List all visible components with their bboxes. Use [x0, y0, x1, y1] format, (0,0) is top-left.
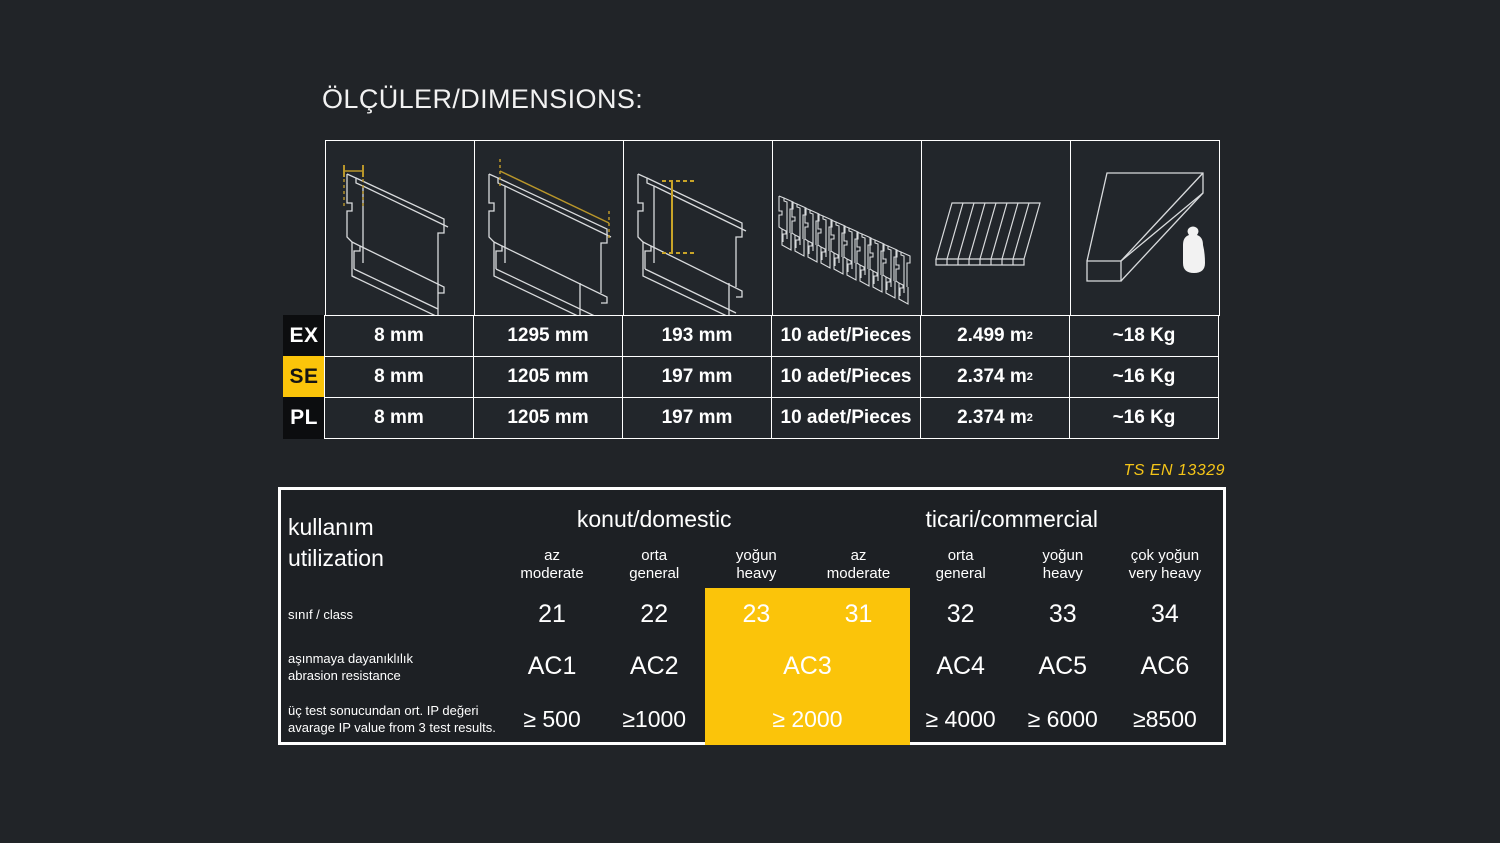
class-21: 21: [501, 588, 603, 640]
subheader-en: heavy: [705, 565, 807, 583]
cell-weight: ~16 Kg: [1069, 356, 1219, 398]
subheader-tr: az: [501, 547, 603, 565]
subheader-tr: az: [807, 547, 909, 565]
dimensions-title: ÖLÇÜLER/DIMENSIONS:: [322, 84, 643, 115]
row-code-ex: EX: [283, 315, 325, 357]
subheader-en: very heavy: [1114, 565, 1216, 583]
class-22: 22: [603, 588, 705, 640]
utilization-row-abrasion: aşınmaya dayanıklılık abrasion resistanc…: [288, 640, 1216, 693]
standard-label: TS EN 13329: [0, 462, 1225, 480]
group-header-commercial: ticari/commercial: [807, 497, 1216, 541]
cell-area: 2.374 m2: [920, 356, 1070, 398]
package-weight-drawing: [1070, 140, 1220, 316]
cell-area-value: 2.374 m: [957, 366, 1027, 388]
subheader-domestic-general: orta general: [603, 541, 705, 588]
utilization-group-header-row: kullanım utilization konut/domestic tica…: [288, 497, 1216, 541]
subheader-commercial-very-heavy: çok yoğun very heavy: [1114, 541, 1216, 588]
abrasion-ac2: AC2: [603, 640, 705, 693]
subheader-domestic-heavy: yoğun heavy: [705, 541, 807, 588]
row-label-ip: üç test sonucundan ort. IP değeri avarag…: [288, 693, 501, 745]
table-row: PL 8 mm 1205 mm 197 mm 10 adet/Pieces 2.…: [283, 397, 1225, 439]
subheader-tr: yoğun: [705, 547, 807, 565]
row-label-tr: üç test sonucundan ort. IP değeri: [288, 702, 501, 719]
dimensions-icon-row: [325, 140, 1225, 316]
plank-stack-drawing: [772, 140, 922, 316]
class-34: 34: [1114, 588, 1216, 640]
class-33: 33: [1012, 588, 1114, 640]
table-row: SE 8 mm 1205 mm 197 mm 10 adet/Pieces 2.…: [283, 356, 1225, 398]
cell-thickness: 8 mm: [324, 315, 474, 357]
cell-area: 2.374 m2: [920, 397, 1070, 439]
subheader-tr: yoğun: [1012, 547, 1114, 565]
class-32: 32: [910, 588, 1012, 640]
plank-length-drawing: [474, 140, 624, 316]
row-code-se: SE: [283, 356, 325, 398]
abrasion-ac3: AC3: [705, 640, 909, 693]
utilization-header-label-tr: kullanım: [288, 512, 501, 543]
cell-area: 2.499 m2: [920, 315, 1070, 357]
row-label-class: sınıf / class: [288, 588, 501, 640]
subheader-en: general: [603, 565, 705, 583]
group-header-domestic: konut/domestic: [501, 497, 807, 541]
row-code-pl: PL: [283, 397, 325, 439]
ip-1000: ≥1000: [603, 693, 705, 745]
cell-area-sup: 2: [1027, 412, 1033, 424]
subheader-tr: orta: [603, 547, 705, 565]
cell-length: 1295 mm: [473, 315, 623, 357]
table-row: EX 8 mm 1295 mm 193 mm 10 adet/Pieces 2.…: [283, 315, 1225, 357]
subheader-tr: çok yoğun: [1114, 547, 1216, 565]
row-label-en: avarage IP value from 3 test results.: [288, 719, 501, 736]
cell-length: 1205 mm: [473, 356, 623, 398]
subheader-domestic-moderate: az moderate: [501, 541, 603, 588]
row-label-en: abrasion resistance: [288, 667, 501, 684]
subheader-commercial-heavy: yoğun heavy: [1012, 541, 1114, 588]
abrasion-ac5: AC5: [1012, 640, 1114, 693]
cell-pieces: 10 adet/Pieces: [771, 315, 921, 357]
ip-2000: ≥ 2000: [705, 693, 909, 745]
cell-weight: ~16 Kg: [1069, 397, 1219, 439]
subheader-en: heavy: [1012, 565, 1114, 583]
cell-height: 197 mm: [622, 397, 772, 439]
cell-area-sup: 2: [1027, 371, 1033, 383]
class-31: 31: [807, 588, 909, 640]
subheader-en: moderate: [807, 565, 909, 583]
row-label-abrasion: aşınmaya dayanıklılık abrasion resistanc…: [288, 640, 501, 693]
cell-height: 197 mm: [622, 356, 772, 398]
utilization-header-label-en: utilization: [288, 543, 501, 574]
utilization-row-class: sınıf / class 21 22 23 31 32 33 34: [288, 588, 1216, 640]
subheader-en: general: [910, 565, 1012, 583]
cell-thickness: 8 mm: [324, 397, 474, 439]
dimensions-table: EX 8 mm 1295 mm 193 mm 10 adet/Pieces 2.…: [283, 140, 1225, 439]
ip-8500: ≥8500: [1114, 693, 1216, 745]
cell-pieces: 10 adet/Pieces: [771, 397, 921, 439]
spec-sheet: ÖLÇÜLER/DIMENSIONS:: [0, 0, 1500, 843]
subheader-en: moderate: [501, 565, 603, 583]
subheader-commercial-general: orta general: [910, 541, 1012, 588]
cell-pieces: 10 adet/Pieces: [771, 356, 921, 398]
cell-area-value: 2.374 m: [957, 407, 1027, 429]
subheader-tr: orta: [910, 547, 1012, 565]
coverage-area-drawing: [921, 140, 1071, 316]
utilization-header-label: kullanım utilization: [288, 497, 501, 588]
ip-4000: ≥ 4000: [910, 693, 1012, 745]
abrasion-ac4: AC4: [910, 640, 1012, 693]
cell-height: 193 mm: [622, 315, 772, 357]
cell-area-value: 2.499 m: [957, 325, 1027, 347]
ip-6000: ≥ 6000: [1012, 693, 1114, 745]
utilization-row-ip: üç test sonucundan ort. IP değeri avarag…: [288, 693, 1216, 745]
row-label-tr: aşınmaya dayanıklılık: [288, 650, 501, 667]
class-23: 23: [705, 588, 807, 640]
cell-length: 1205 mm: [473, 397, 623, 439]
abrasion-ac6: AC6: [1114, 640, 1216, 693]
cell-area-sup: 2: [1027, 330, 1033, 342]
plank-height-drawing: [623, 140, 773, 316]
cell-thickness: 8 mm: [324, 356, 474, 398]
plank-thickness-drawing: [325, 140, 475, 316]
cell-weight: ~18 Kg: [1069, 315, 1219, 357]
row-label-tr: sınıf / class: [288, 606, 501, 623]
ip-500: ≥ 500: [501, 693, 603, 745]
abrasion-ac1: AC1: [501, 640, 603, 693]
subheader-commercial-moderate: az moderate: [807, 541, 909, 588]
utilization-table: kullanım utilization konut/domestic tica…: [278, 487, 1226, 745]
